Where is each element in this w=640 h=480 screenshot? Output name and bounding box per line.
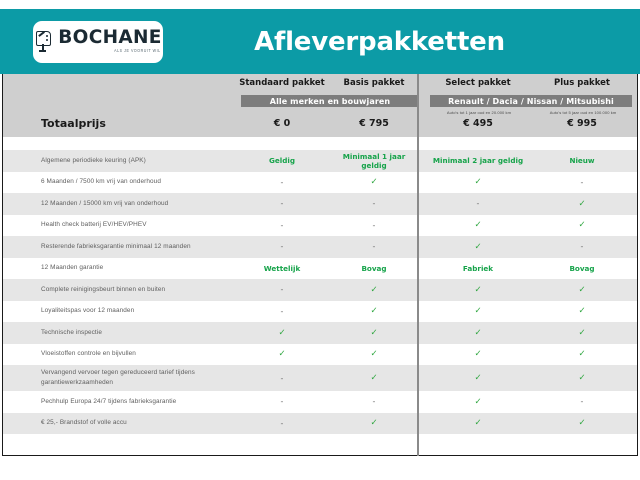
column-header-select: Select pakket: [427, 78, 529, 88]
table-footer-space: [3, 434, 637, 456]
check-icon: ✓: [531, 349, 633, 359]
table-row: 6 Maanden / 7500 km vrij van onderhoud-✓…: [3, 172, 637, 194]
cell-value: Nieuw: [531, 156, 633, 165]
check-icon: ✓: [427, 373, 529, 383]
dash-marker: -: [427, 199, 529, 208]
page-title: Afleverpakketten: [163, 27, 596, 57]
check-icon: ✓: [427, 285, 529, 295]
row-label: Resterende fabrieksgarantie minimaal 12 …: [41, 242, 236, 252]
dash-marker: -: [531, 242, 633, 251]
header-banner: BOCHANE ALS JE VOORUIT WIL Afleverpakket…: [0, 9, 640, 74]
check-icon: ✓: [427, 306, 529, 316]
cell-value: Bovag: [531, 264, 633, 273]
dash-marker: -: [235, 397, 329, 406]
feature-rows: Algemene periodieke keuring (APK)GeldigM…: [3, 150, 637, 434]
row-label: Vloeistoffen controle en bijvullen: [41, 349, 236, 359]
cell-value: Geldig: [235, 156, 329, 165]
table-row: Health check batterij EV/HEV/PHEV--✓✓: [3, 215, 637, 237]
check-icon: ✓: [329, 177, 419, 187]
check-icon: ✓: [427, 177, 529, 187]
row-label: 12 Maanden garantie: [41, 263, 236, 273]
header-spacer: [3, 137, 637, 150]
row-label: Pechhulp Europa 24/7 tijdens fabrieksgar…: [41, 397, 236, 407]
dash-marker: -: [329, 397, 419, 406]
check-icon: ✓: [531, 306, 633, 316]
check-icon: ✓: [329, 306, 419, 316]
dash-marker: -: [329, 199, 419, 208]
group-bar-brand-group: Renault / Dacia / Nissan / Mitsubishi: [430, 95, 632, 107]
table-row: € 25,- Brandstof of volle accu-✓✓✓: [3, 413, 637, 435]
check-icon: ✓: [427, 418, 529, 428]
check-icon: ✓: [531, 373, 633, 383]
row-label: 6 Maanden / 7500 km vrij van onderhoud: [41, 177, 236, 187]
check-icon: ✓: [329, 349, 419, 359]
total-price-row: Totaalprijs € 0 € 795 € 495 € 995: [3, 112, 637, 137]
table-row: Vervangend vervoer tegen gereduceerd tar…: [3, 365, 637, 391]
row-label: € 25,- Brandstof of volle accu: [41, 418, 236, 428]
logo-wordmark: BOCHANE: [58, 29, 161, 48]
row-label: Complete reinigingsbeurt binnen en buite…: [41, 285, 236, 295]
dash-marker: -: [235, 242, 329, 251]
table-row: Complete reinigingsbeurt binnen en buite…: [3, 279, 637, 301]
check-icon: ✓: [235, 328, 329, 338]
check-icon: ✓: [427, 349, 529, 359]
row-label: Algemene periodieke keuring (APK): [41, 156, 236, 166]
package-name-row: Standaard pakket Basis pakket Select pak…: [3, 78, 637, 92]
check-icon: ✓: [531, 418, 633, 428]
table-row: Pechhulp Europa 24/7 tijdens fabrieksgar…: [3, 391, 637, 413]
cell-value: Bovag: [329, 264, 419, 273]
column-header-standaard: Standaard pakket: [235, 78, 329, 88]
packages-table: Standaard pakket Basis pakket Select pak…: [2, 74, 638, 456]
dash-marker: -: [329, 242, 419, 251]
check-icon: ✓: [427, 328, 529, 338]
price-select: € 495: [427, 118, 529, 129]
cell-value: Fabriek: [427, 264, 529, 273]
check-icon: ✓: [329, 285, 419, 295]
table-row: 12 Maanden / 15000 km vrij van onderhoud…: [3, 193, 637, 215]
check-icon: ✓: [235, 349, 329, 359]
table-row: Technische inspectie✓✓✓✓: [3, 322, 637, 344]
check-icon: ✓: [427, 397, 529, 407]
page-root: BOCHANE ALS JE VOORUIT WIL Afleverpakket…: [0, 0, 640, 480]
price-basis: € 795: [329, 118, 419, 129]
table-row: Resterende fabrieksgarantie minimaal 12 …: [3, 236, 637, 258]
row-label: Loyaliteitspas voor 12 maanden: [41, 306, 236, 316]
dash-marker: -: [235, 199, 329, 208]
price-plus: € 995: [531, 118, 633, 129]
table-row: Loyaliteitspas voor 12 maanden-✓✓✓: [3, 301, 637, 323]
bochane-mark-icon: [34, 30, 53, 54]
table-row: Algemene periodieke keuring (APK)GeldigM…: [3, 150, 637, 172]
column-group-divider: [417, 74, 419, 456]
column-header-plus: Plus pakket: [531, 78, 633, 88]
check-icon: ✓: [531, 199, 633, 209]
group-bar-all-brands: Alle merken en bouwjaren: [241, 95, 419, 107]
dash-marker: -: [235, 374, 329, 383]
check-icon: ✓: [329, 418, 419, 428]
check-icon: ✓: [531, 220, 633, 230]
dash-marker: -: [329, 221, 419, 230]
logo-text: BOCHANE ALS JE VOORUIT WIL: [58, 29, 161, 54]
total-price-label: Totaalprijs: [41, 117, 106, 130]
price-standaard: € 0: [235, 118, 329, 129]
check-icon: ✓: [531, 328, 633, 338]
row-label: Health check batterij EV/HEV/PHEV: [41, 220, 236, 230]
check-icon: ✓: [531, 285, 633, 295]
dash-marker: -: [235, 221, 329, 230]
cell-value: Wettelijk: [235, 264, 329, 273]
check-icon: ✓: [329, 328, 419, 338]
row-label: Vervangend vervoer tegen gereduceerd tar…: [41, 368, 236, 387]
row-label: Technische inspectie: [41, 328, 236, 338]
table-row: 12 Maanden garantieWettelijkBovagFabriek…: [3, 258, 637, 280]
dash-marker: -: [531, 178, 633, 187]
row-label: 12 Maanden / 15000 km vrij van onderhoud: [41, 199, 236, 209]
check-icon: ✓: [329, 373, 419, 383]
check-icon: ✓: [427, 242, 529, 252]
dash-marker: -: [235, 419, 329, 428]
dash-marker: -: [235, 307, 329, 316]
column-header-basis: Basis pakket: [329, 78, 419, 88]
logo-tagline: ALS JE VOORUIT WIL: [114, 50, 161, 54]
dash-marker: -: [531, 397, 633, 406]
bochane-logo: BOCHANE ALS JE VOORUIT WIL: [33, 21, 163, 63]
table-row: Vloeistoffen controle en bijvullen✓✓✓✓: [3, 344, 637, 366]
cell-value: Minimaal 2 jaar geldig: [427, 156, 529, 165]
table-header: Standaard pakket Basis pakket Select pak…: [3, 74, 637, 137]
dash-marker: -: [235, 285, 329, 294]
check-icon: ✓: [427, 220, 529, 230]
cell-value: Minimaal 1 jaar geldig: [329, 152, 419, 170]
dash-marker: -: [235, 178, 329, 187]
